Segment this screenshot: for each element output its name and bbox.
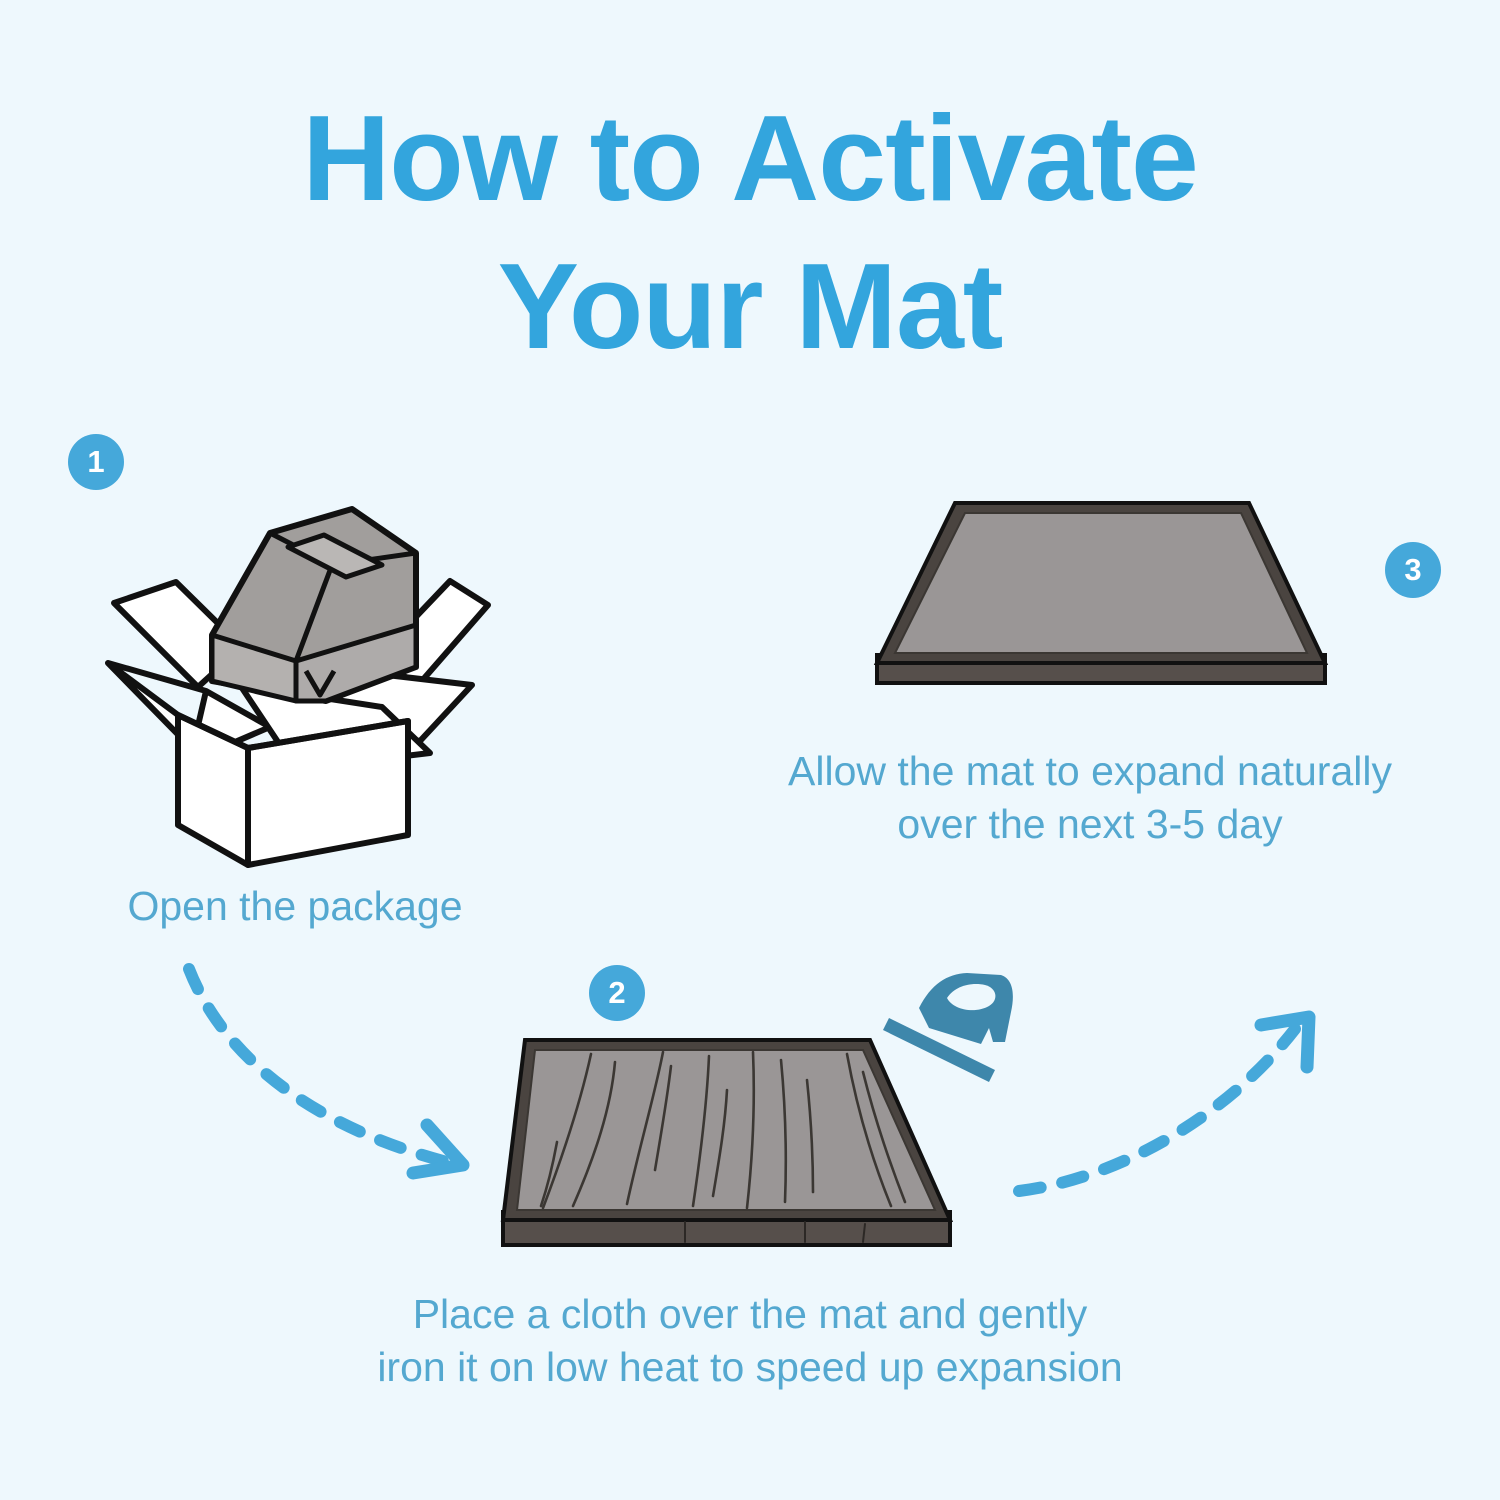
arrow-dashed-path <box>1019 1029 1295 1191</box>
arrow-step2-to-step3 <box>995 995 1345 1235</box>
step-2-caption-line-1: Place a cloth over the mat and gently <box>220 1288 1280 1341</box>
vacuum-packed-mat <box>212 509 416 701</box>
cardboard-box-icon <box>120 495 490 865</box>
page-title: How to Activate Your Mat <box>0 84 1500 380</box>
dashed-arrow-up-right-icon <box>995 995 1345 1235</box>
flat-mat-icon <box>855 475 1365 710</box>
step-3-caption-line-1: Allow the mat to expand naturally <box>660 745 1500 798</box>
arrow-step1-to-step2 <box>175 965 505 1195</box>
page-title-line-1: How to Activate <box>0 84 1500 232</box>
mat-surface <box>517 1050 935 1210</box>
step-2-caption: Place a cloth over the mat and gently ir… <box>220 1288 1280 1394</box>
step-2-caption-line-2: iron it on low heat to speed up expansio… <box>220 1341 1280 1394</box>
step-1-caption: Open the package <box>0 880 590 933</box>
step-3-caption-line-2: over the next 3-5 day <box>660 798 1500 851</box>
arrow-dashed-path <box>189 969 443 1161</box>
mat-surface <box>895 513 1307 653</box>
step-badge-3: 3 <box>1385 542 1441 598</box>
page-title-line-2: Your Mat <box>0 232 1500 380</box>
open-package-illustration <box>120 495 490 865</box>
dashed-arrow-down-right-icon <box>175 965 505 1195</box>
step-badge-2: 2 <box>589 965 645 1021</box>
step-3-caption: Allow the mat to expand naturally over t… <box>660 745 1500 851</box>
infographic-page: How to Activate Your Mat 1 <box>0 0 1500 1500</box>
expanded-mat-illustration <box>855 475 1365 710</box>
step-badge-1: 1 <box>68 434 124 490</box>
